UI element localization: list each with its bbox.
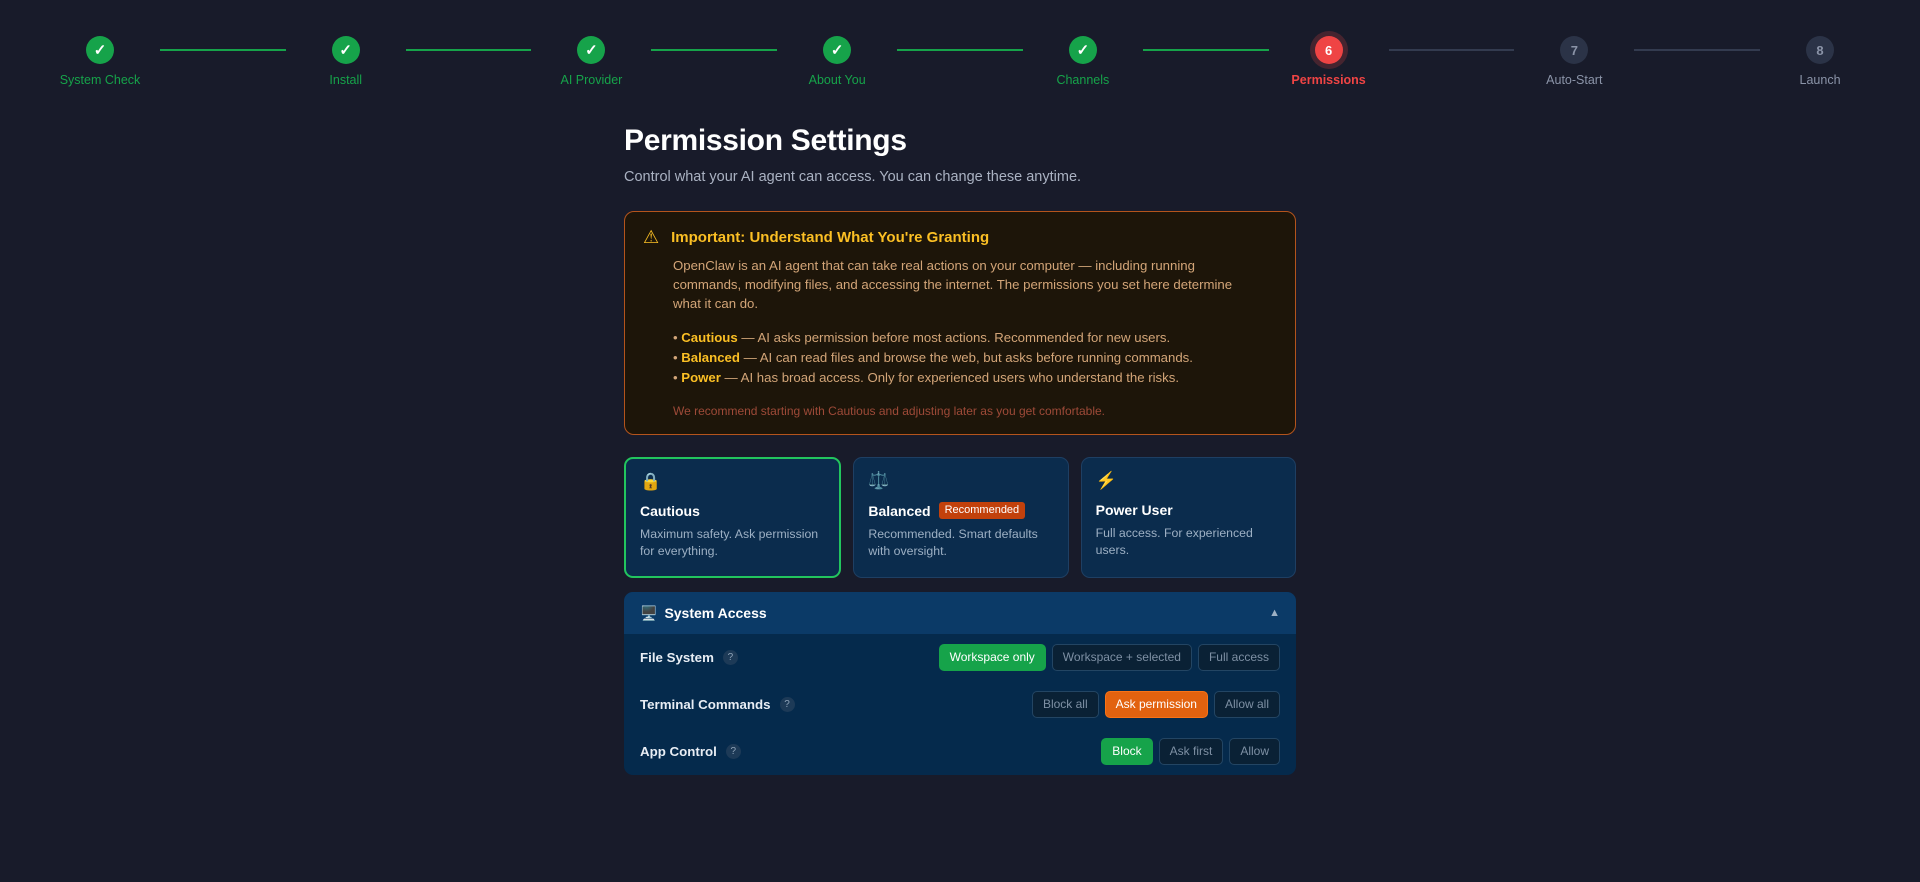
page-title: Permission Settings xyxy=(624,124,1920,158)
stepper-step-channels[interactable]: ✓Channels xyxy=(1023,36,1143,87)
warning-bullet-list: • Cautious — AI asks permission before m… xyxy=(673,328,1277,388)
step-glyph: ✓ xyxy=(1077,43,1090,58)
warning-bullet-item: • Balanced — AI can read files and brows… xyxy=(673,348,1277,368)
warning-bullet-text: — AI asks permission before most actions… xyxy=(738,330,1170,345)
help-icon[interactable]: ? xyxy=(726,744,741,759)
permission-row-file-system: File System?Workspace onlyWorkspace + se… xyxy=(624,634,1296,681)
stepper-connector xyxy=(1634,49,1760,51)
step-glyph: ✓ xyxy=(339,43,352,58)
permission-label: Terminal Commands xyxy=(640,697,771,712)
option-allow-all[interactable]: Allow all xyxy=(1214,691,1280,718)
preset-description: Maximum safety. Ask permission for every… xyxy=(640,526,825,560)
option-workspace-selected[interactable]: Workspace + selected xyxy=(1052,644,1192,671)
warning-bullet-name: Cautious xyxy=(681,330,737,345)
step-label: System Check xyxy=(60,73,141,87)
stepper-step-auto-start[interactable]: 7Auto-Start xyxy=(1514,36,1634,87)
permission-row-label-group: Terminal Commands? xyxy=(640,697,795,712)
step-glyph: ✓ xyxy=(585,43,598,58)
step-circle: ✓ xyxy=(823,36,851,64)
warning-triangle-icon: ⚠ xyxy=(643,228,659,248)
option-ask-permission[interactable]: Ask permission xyxy=(1105,691,1208,718)
option-allow[interactable]: Allow xyxy=(1229,738,1280,765)
warning-bullet-item: • Cautious — AI asks permission before m… xyxy=(673,328,1277,348)
preset-icon-cautious: 🔒 xyxy=(640,473,825,490)
system-access-section: 🖥️ System Access ▲ File System?Workspace… xyxy=(624,592,1296,775)
permission-row-terminal-commands: Terminal Commands?Block allAsk permissio… xyxy=(624,681,1296,728)
stepper-step-ai-provider[interactable]: ✓AI Provider xyxy=(531,36,651,87)
stepper-connector xyxy=(1389,49,1515,51)
step-circle: ✓ xyxy=(86,36,114,64)
step-glyph: 7 xyxy=(1571,44,1578,57)
preset-name: Power User xyxy=(1096,502,1173,518)
permission-row-label-group: App Control? xyxy=(640,744,741,759)
stepper-step-permissions[interactable]: 6Permissions xyxy=(1269,36,1389,87)
warning-bullet-name: Balanced xyxy=(681,350,740,365)
step-circle: 7 xyxy=(1560,36,1588,64)
step-label: Auto-Start xyxy=(1546,73,1602,87)
preset-name: Cautious xyxy=(640,503,700,519)
system-access-header-left: 🖥️ System Access xyxy=(640,605,767,621)
stepper-step-install[interactable]: ✓Install xyxy=(286,36,406,87)
step-label: Launch xyxy=(1800,73,1841,87)
warning-bullet-name: Power xyxy=(681,370,721,385)
page-subtitle: Control what your AI agent can access. Y… xyxy=(624,169,1920,185)
step-glyph: 6 xyxy=(1325,44,1332,57)
recommended-badge: Recommended xyxy=(939,502,1026,519)
preset-icon-balanced: ⚖️ xyxy=(868,472,1053,489)
warning-body-text: OpenClaw is an AI agent that can take re… xyxy=(673,256,1258,313)
help-icon[interactable]: ? xyxy=(780,697,795,712)
permission-option-group: Workspace onlyWorkspace + selectedFull a… xyxy=(939,644,1280,671)
step-circle: ✓ xyxy=(332,36,360,64)
option-ask-first[interactable]: Ask first xyxy=(1159,738,1224,765)
warning-bullet-item: • Power — AI has broad access. Only for … xyxy=(673,368,1277,388)
permission-label: File System xyxy=(640,650,714,665)
preset-description: Full access. For experienced users. xyxy=(1096,525,1281,559)
help-icon[interactable]: ? xyxy=(723,650,738,665)
preset-name-row: BalancedRecommended xyxy=(868,502,1053,519)
option-block[interactable]: Block xyxy=(1101,738,1152,765)
system-access-title: System Access xyxy=(664,605,766,621)
stepper-step-about-you[interactable]: ✓About You xyxy=(777,36,897,87)
step-glyph: ✓ xyxy=(94,43,107,58)
option-workspace-only[interactable]: Workspace only xyxy=(939,644,1046,671)
step-circle: ✓ xyxy=(577,36,605,64)
preset-card-group: 🔒CautiousMaximum safety. Ask permission … xyxy=(624,457,1296,578)
permission-row-app-control: App Control?BlockAsk firstAllow xyxy=(624,728,1296,775)
stepper-step-launch[interactable]: 8Launch xyxy=(1760,36,1880,87)
step-circle: ✓ xyxy=(1069,36,1097,64)
permission-rows: File System?Workspace onlyWorkspace + se… xyxy=(624,634,1296,775)
option-full-access[interactable]: Full access xyxy=(1198,644,1280,671)
warning-note: We recommend starting with Cautious and … xyxy=(673,404,1277,418)
step-label: Permissions xyxy=(1291,73,1365,87)
step-circle: 8 xyxy=(1806,36,1834,64)
preset-card-power-user[interactable]: ⚡Power UserFull access. For experienced … xyxy=(1081,457,1296,578)
preset-icon-power-user: ⚡ xyxy=(1096,472,1281,489)
preset-card-cautious[interactable]: 🔒CautiousMaximum safety. Ask permission … xyxy=(624,457,841,578)
onboarding-stepper: ✓System Check✓Install✓AI Provider✓About … xyxy=(0,0,1920,110)
step-label: AI Provider xyxy=(561,73,623,87)
warning-bullet-text: — AI has broad access. Only for experien… xyxy=(721,370,1179,385)
step-label: About You xyxy=(809,73,866,87)
monitor-icon: 🖥️ xyxy=(640,606,657,620)
main-content: Permission Settings Control what your AI… xyxy=(0,124,1920,775)
stepper-connector xyxy=(160,49,286,51)
step-label: Install xyxy=(329,73,362,87)
permission-option-group: Block allAsk permissionAllow all xyxy=(1032,691,1280,718)
stepper-connector xyxy=(897,49,1023,51)
permission-label: App Control xyxy=(640,744,717,759)
step-label: Channels xyxy=(1056,73,1109,87)
warning-panel: ⚠ Important: Understand What You're Gran… xyxy=(624,211,1296,435)
permission-option-group: BlockAsk firstAllow xyxy=(1101,738,1280,765)
preset-description: Recommended. Smart defaults with oversig… xyxy=(868,526,1053,560)
stepper-connector xyxy=(651,49,777,51)
stepper-connector xyxy=(1143,49,1269,51)
warning-bullet-text: — AI can read files and browse the web, … xyxy=(740,350,1193,365)
stepper-step-system-check[interactable]: ✓System Check xyxy=(40,36,160,87)
chevron-up-icon[interactable]: ▲ xyxy=(1269,607,1280,619)
stepper-connector xyxy=(406,49,532,51)
preset-name: Balanced xyxy=(868,503,930,519)
option-block-all[interactable]: Block all xyxy=(1032,691,1099,718)
preset-name-row: Cautious xyxy=(640,503,825,519)
step-glyph: 8 xyxy=(1816,44,1823,57)
preset-name-row: Power User xyxy=(1096,502,1281,518)
permission-row-label-group: File System? xyxy=(640,650,738,665)
step-circle: 6 xyxy=(1315,36,1343,64)
warning-title: Important: Understand What You're Granti… xyxy=(671,228,989,246)
warning-header: ⚠ Important: Understand What You're Gran… xyxy=(643,228,1277,248)
preset-card-balanced[interactable]: ⚖️BalancedRecommendedRecommended. Smart … xyxy=(853,457,1068,578)
system-access-header[interactable]: 🖥️ System Access ▲ xyxy=(624,592,1296,634)
step-glyph: ✓ xyxy=(831,43,844,58)
stepper-steps: ✓System Check✓Install✓AI Provider✓About … xyxy=(0,36,1920,87)
